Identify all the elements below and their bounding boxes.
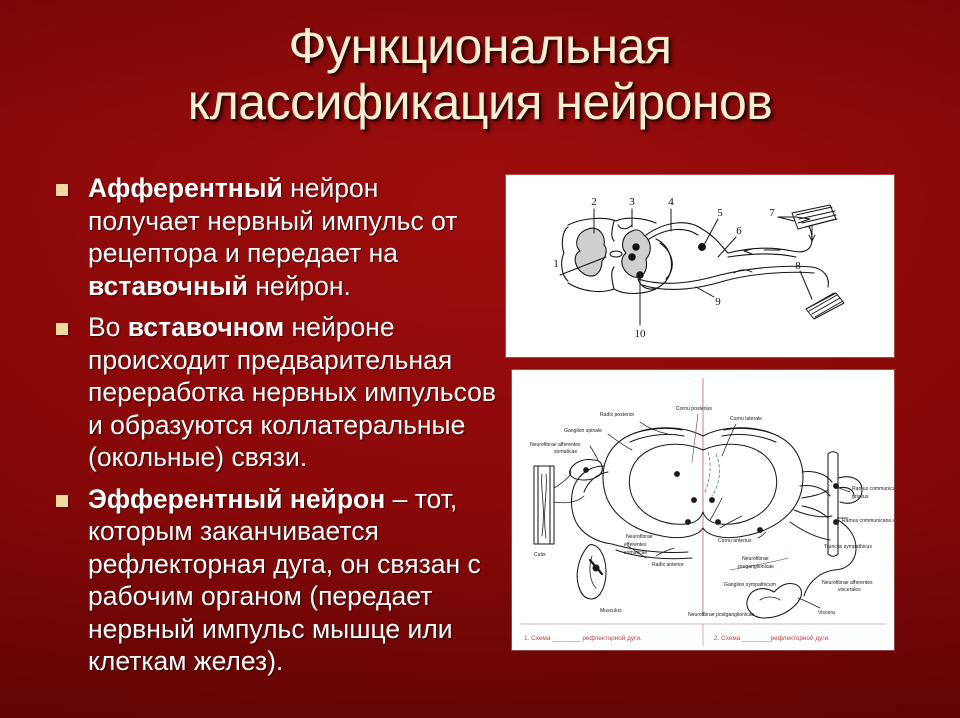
slide-canvas: Функциональная классификация нейронов Аф… (0, 0, 960, 718)
label-ramus-communicans-griseus-2: griseus (852, 494, 869, 500)
label-neurofibrae-efferentes-1: Neurofibrae (626, 534, 653, 540)
diagram-label-5: 5 (717, 207, 723, 219)
list-item-afferent: Афферентный нейрон получает нервный импу… (46, 172, 496, 302)
label-musculus: Musculus (600, 608, 622, 614)
label-cornu-anterius: Cornu anterius (718, 538, 752, 544)
label-radix-anterior: Radix anterior (652, 562, 684, 568)
diagram-label-4: 4 (668, 196, 674, 208)
label-ganglion-spinale: Ganglion spinale (564, 428, 602, 434)
label-cornu-posterius: Cornu posterius (676, 406, 712, 412)
diagram-label-7: 7 (769, 207, 775, 219)
page-title: Функциональная классификация нейронов (0, 18, 960, 130)
bullet-text-afferent: Афферентный нейрон получает нервный импу… (88, 172, 496, 302)
label-ramus-communicans-albus: Ramus communicans albus (842, 518, 894, 524)
label-neurofibrae-preganglionicae-1: Neurofibrae (742, 556, 769, 562)
diagram-label-6: 6 (736, 225, 742, 237)
diagram-label-9: 9 (715, 296, 721, 308)
bullet-text-efferent: Эфферентный нейрон – тот, которым заканч… (88, 483, 496, 678)
label-ramus-communicans-griseus-1: Ramus communicans (852, 486, 894, 492)
caption-scheme-1: 1. Схема ________ рефлекторной дуги. (524, 634, 642, 642)
label-cornu-laterale: Cornu laterale (730, 416, 762, 422)
diagram-label-3: 3 (629, 196, 635, 208)
label-neurofibrae-afferentes-viscerales-2: viscerales (838, 587, 861, 593)
diagram-label-2: 2 (591, 196, 597, 208)
label-neurofibrae-afferentes-somaticae-2: somaticae (554, 449, 577, 455)
square-bullet-icon (56, 495, 68, 507)
reflex-arc-numbered-image: 1 2 3 4 5 6 7 8 9 10 (506, 175, 894, 357)
list-item-interneuron: Во вставочном нейроне происходит предвар… (46, 311, 496, 474)
diagram-label-10: 10 (635, 328, 647, 340)
list-item-efferent: Эфферентный нейрон – тот, которым заканч… (46, 483, 496, 678)
label-truncus-sympathicus: Truncus sympathicus (824, 544, 872, 550)
label-viscera: Viscera (818, 610, 835, 616)
label-neurofibrae-preganglionicae-2: preganglionicae (738, 564, 774, 570)
spinal-cord-latin-image: Radix posterior Ganglion spinale Neurofi… (512, 370, 894, 650)
label-neurofibrae-afferentes-viscerales-1: Neurofibrae afferentes (822, 580, 873, 586)
square-bullet-icon (56, 184, 68, 196)
page-title-line-1: Функциональная (0, 18, 960, 74)
diagram-label-8: 8 (795, 260, 801, 272)
label-neurofibrae-efferentes-2: efferentes (624, 542, 647, 548)
page-title-line-2: классификация нейронов (0, 74, 960, 130)
label-neurofibrae-efferentes-3: somaticae (624, 550, 647, 556)
label-neurofibrae-afferentes-somaticae-1: Neurofibrae afferentes (530, 442, 581, 448)
label-neurofibrae-postganglionicae: Neurofibrae postganglionicae (688, 612, 754, 618)
bullet-list: Афферентный нейрон получает нервный импу… (46, 172, 496, 687)
reflex-arc-numbered-svg: 1 2 3 4 5 6 7 8 9 10 (506, 175, 894, 357)
spinal-cord-latin-svg: Radix posterior Ganglion spinale Neurofi… (512, 370, 894, 650)
caption-scheme-2: 2. Схема ________рефлекторной дуги. (714, 634, 830, 642)
label-ganglion-sympathicum: Ganglion sympathicum (724, 582, 776, 588)
label-cutis: Cutis (534, 552, 546, 558)
label-radix-posterior: Radix posterior (600, 412, 635, 418)
diagram-label-1: 1 (553, 258, 559, 270)
bullet-text-interneuron: Во вставочном нейроне происходит предвар… (88, 311, 496, 474)
square-bullet-icon (56, 323, 68, 335)
